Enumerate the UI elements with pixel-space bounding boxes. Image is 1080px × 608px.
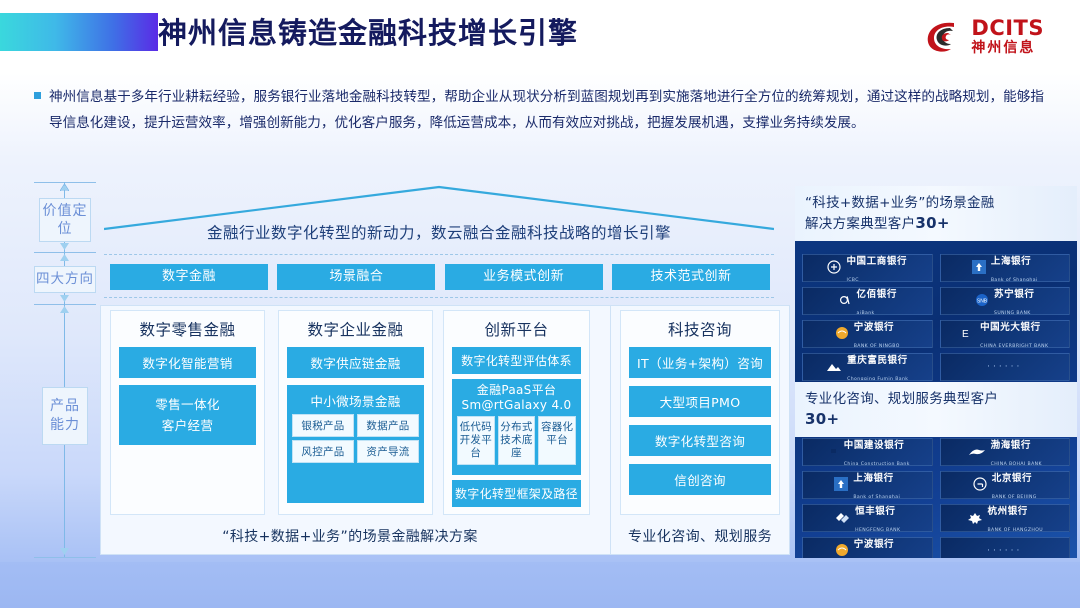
customer-name-cn: 渤海银行 <box>991 440 1031 451</box>
customer-name-cn: 中国光大银行 <box>980 322 1041 333</box>
customer-name-cn: 亿佰银行 <box>857 289 897 300</box>
sme-child-0[interactable]: 银税产品 <box>292 414 354 437</box>
innovation-item-paas[interactable]: 金融PaaS平台 Sm@rtGalaxy 4.0 低代码开发平台 分布式技术底座… <box>452 379 581 475</box>
customer-name-en: Chongqing Fumin Bank <box>847 377 908 381</box>
customer-name-cn: 重庆富民银行 <box>847 355 908 366</box>
slide-header: 神州信息铸造金融科技增长引擎 DCITS 神州信息 <box>0 0 1080 72</box>
svg-text:E: E <box>962 329 969 340</box>
arrow-down-icon <box>60 548 69 555</box>
customer-name-en: Bank of Shanghai <box>853 495 900 499</box>
aibank-icon <box>838 292 852 311</box>
arrow-down-icon <box>60 243 69 250</box>
customer-name-en: BANK OF HANGZHOU <box>988 528 1044 532</box>
customer-logo-tile[interactable]: 亿佰银行aiBank <box>802 287 933 315</box>
paas-child-2[interactable]: 容器化平台 <box>538 416 576 465</box>
direction-pill-3[interactable]: 技术范式创新 <box>612 264 770 290</box>
hero-text: 金融行业数字化转型的新动力，数云融合金融科技战略的增长引擎 <box>104 221 774 243</box>
consulting-item-1[interactable]: 大型项目PMO <box>629 386 771 417</box>
innovation-item-framework[interactable]: 数字化转型框架及路径 <box>452 480 581 507</box>
customer-name-en: BANK OF NINGBO <box>854 344 900 348</box>
customer-logo-text: 重庆富民银行Chongqing Fumin Bank <box>847 353 908 381</box>
customer-logos-panel: “科技+数据+业务”的场景金融 解决方案典型客户30+ 中国工商银行ICBC上海… <box>795 186 1077 558</box>
bank-of-hangzhou-icon <box>967 509 983 528</box>
customer-logo-text: 上海银行Bank of Shanghai <box>853 471 900 499</box>
customer-name-en: China Construction Bank <box>844 462 910 466</box>
arrow-down-icon <box>60 295 69 302</box>
customer-group1-heading: “科技+数据+业务”的场景金融 解决方案典型客户30+ <box>795 186 1077 241</box>
customer-logo-text: 宁波银行BANK OF NINGBO <box>854 320 900 348</box>
customer-logo-tile[interactable]: ······ <box>940 353 1071 381</box>
group1-title-line1: “科技+数据+业务”的场景金融 <box>805 193 1067 213</box>
customer-name-cn: 杭州银行 <box>988 506 1028 517</box>
column-digital-retail: 数字零售金融 数字化智能营销 零售一体化 客户经营 <box>110 310 265 515</box>
group2-title: 专业化咨询、规划服务典型客户 <box>805 389 1067 409</box>
direction-pill-2[interactable]: 业务模式创新 <box>445 264 603 290</box>
customer-group2-grid: 中国建设银行China Construction Bank渤海银行CHINA B… <box>802 438 1070 558</box>
customer-group2-heading: 专业化咨询、规划服务典型客户 30+ <box>795 382 1077 437</box>
customer-name-cn: 中国建设银行 <box>844 440 905 451</box>
retail-item-line2: 客户经营 <box>121 415 254 436</box>
column-digital-enterprise: 数字企业金融 数字供应链金融 中小微场景金融 银税产品 数据产品 风控产品 资产… <box>278 310 433 515</box>
hero-banner: 金融行业数字化转型的新动力，数云融合金融科技战略的增长引擎 <box>104 183 774 247</box>
customer-name-en: CHINA BOHAI BANK <box>991 462 1042 466</box>
fumin-bank-icon <box>826 358 842 377</box>
customer-name-cn: 恒丰银行 <box>855 506 895 517</box>
ellipsis-icon: ······ <box>987 546 1022 556</box>
sme-child-1[interactable]: 数据产品 <box>357 414 419 437</box>
enterprise-item-supply-chain[interactable]: 数字供应链金融 <box>287 347 424 378</box>
customer-logo-tile[interactable]: SNB苏宁银行SUNING BANK <box>940 287 1071 315</box>
customer-name-en: aiBank <box>857 311 875 315</box>
bottom-band <box>0 562 1080 608</box>
bank-of-beijing-icon <box>973 476 987 495</box>
innovation-item-assessment[interactable]: 数字化转型评估体系 <box>452 347 581 374</box>
customer-name-cn: 苏宁银行 <box>994 289 1034 300</box>
customer-logo-tile[interactable]: 重庆富民银行Chongqing Fumin Bank <box>802 353 933 381</box>
customer-name-en: SUNING BANK <box>994 311 1031 315</box>
left-axis: 价值定位 四大方向 产品能力 <box>34 182 96 558</box>
customer-logo-tile[interactable]: 中国建设银行China Construction Bank <box>802 438 933 466</box>
customer-logo-tile[interactable]: 渤海银行CHINA BOHAI BANK <box>940 438 1071 466</box>
axis-label-value-position: 价值定位 <box>39 198 91 242</box>
direction-pill-0[interactable]: 数字金融 <box>110 264 268 290</box>
divider-bottom <box>104 297 774 298</box>
customer-name-cn: 中国工商银行 <box>846 256 907 267</box>
sme-children-grid: 银税产品 数据产品 风控产品 资产导流 <box>292 414 419 463</box>
caption-solution: “科技+数据+业务”的场景金融解决方案 <box>110 526 590 546</box>
customer-name-en: HENGFENG BANK <box>855 528 900 532</box>
description-text: 神州信息基于多年行业耕耘经验，服务银行业落地金融科技转型，帮助企业从现状分析到蓝… <box>49 84 1044 136</box>
paas-line2: Sm@rtGalaxy 4.0 <box>452 398 581 413</box>
sme-child-3[interactable]: 资产导流 <box>357 440 419 463</box>
customer-name-cn: 上海银行 <box>853 473 893 484</box>
column-title: 科技咨询 <box>629 318 771 340</box>
bohai-bank-icon <box>968 443 986 462</box>
bank-of-shanghai-icon <box>972 259 986 278</box>
bank-of-shanghai-icon <box>834 476 848 495</box>
ellipsis-icon: ······ <box>987 362 1022 372</box>
paas-children-grid: 低代码开发平台 分布式技术底座 容器化平台 <box>457 416 576 465</box>
customer-logo-text: 中国光大银行CHINA EVERBRIGHT BANK <box>980 320 1048 348</box>
column-title: 数字企业金融 <box>287 318 424 340</box>
paas-child-0[interactable]: 低代码开发平台 <box>457 416 495 465</box>
retail-item-line1: 零售一体化 <box>121 394 254 415</box>
customer-logo-text: 北京银行BANK OF BEIJING <box>992 471 1037 499</box>
customer-logo-tile[interactable]: 恒丰银行HENGFENG BANK <box>802 504 933 532</box>
column-title: 创新平台 <box>452 318 581 340</box>
enterprise-item-sme-scenario[interactable]: 中小微场景金融 银税产品 数据产品 风控产品 资产导流 <box>287 385 424 503</box>
group1-count: 30+ <box>915 214 949 232</box>
divider-top <box>104 254 774 255</box>
customer-logo-tile[interactable]: 上海银行Bank of Shanghai <box>940 254 1071 282</box>
customer-logo-tile[interactable]: 北京银行BANK OF BEIJING <box>940 471 1071 499</box>
customer-logo-text: 恒丰银行HENGFENG BANK <box>855 504 900 532</box>
column-tech-consulting: 科技咨询 IT（业务+架构）咨询 大型项目PMO 数字化转型咨询 信创咨询 <box>620 310 780 515</box>
caption-consulting: 专业化咨询、规划服务 <box>614 526 786 546</box>
customer-logo-text: 中国建设银行China Construction Bank <box>844 438 910 466</box>
consulting-item-0[interactable]: IT（业务+架构）咨询 <box>629 347 771 378</box>
paas-line1: 金融PaaS平台 <box>452 383 581 398</box>
sme-title: 中小微场景金融 <box>287 391 424 410</box>
customer-logo-tile[interactable]: 上海银行Bank of Shanghai <box>802 471 933 499</box>
everbright-icon: E <box>961 325 975 344</box>
icbc-icon <box>827 259 841 278</box>
consulting-item-3[interactable]: 信创咨询 <box>629 464 771 495</box>
suning-bank-icon: SNB <box>975 292 989 311</box>
bullet-icon <box>34 92 41 99</box>
customer-logo-text: 上海银行Bank of Shanghai <box>991 254 1038 282</box>
customer-logo-text: 渤海银行CHINA BOHAI BANK <box>991 438 1042 466</box>
sme-child-2[interactable]: 风控产品 <box>292 440 354 463</box>
customer-name-en: CHINA EVERBRIGHT BANK <box>980 344 1048 348</box>
customer-group1-grid: 中国工商银行ICBC上海银行Bank of Shanghai亿佰银行aiBank… <box>802 254 1070 381</box>
customer-name-en: BANK OF BEIJING <box>992 495 1037 499</box>
svg-text:SNB: SNB <box>977 298 988 304</box>
bank-of-ningbo-icon <box>835 325 849 344</box>
arrow-up-icon <box>60 306 69 313</box>
customer-name-cn: 宁波银行 <box>854 539 894 550</box>
arrow-up-icon <box>60 184 69 191</box>
customer-logo-text: 宁波银行BANK OF NINGBO <box>854 537 900 558</box>
consulting-item-2[interactable]: 数字化转型咨询 <box>629 425 771 456</box>
slide-root: 神州信息铸造金融科技增长引擎 DCITS 神州信息 神州信息基于多年行业耕耘经验… <box>0 0 1080 608</box>
description-block: 神州信息基于多年行业耕耘经验，服务银行业落地金融科技转型，帮助企业从现状分析到蓝… <box>34 84 1044 136</box>
customer-name-en: ICBC <box>846 278 858 282</box>
ccb-icon <box>825 443 839 462</box>
logo-text-cn: 神州信息 <box>971 41 1044 55</box>
customer-logo-tile[interactable]: 宁波银行BANK OF NINGBO <box>802 320 933 348</box>
paas-child-1[interactable]: 分布式技术底座 <box>498 416 536 465</box>
customer-name-cn: 北京银行 <box>992 473 1032 484</box>
group2-count: 30+ <box>805 410 839 428</box>
retail-item-smart-marketing[interactable]: 数字化智能营销 <box>119 347 256 378</box>
dcits-logo: DCITS 神州信息 <box>924 18 1044 55</box>
column-title: 数字零售金融 <box>119 318 256 340</box>
group1-title-line2: 解决方案典型客户 <box>805 216 915 232</box>
customer-logo-tile[interactable]: ······ <box>940 537 1071 558</box>
hengfeng-bank-icon <box>834 509 850 528</box>
customer-logo-tile[interactable]: E中国光大银行CHINA EVERBRIGHT BANK <box>940 320 1071 348</box>
page-title: 神州信息铸造金融科技增长引擎 <box>158 10 578 52</box>
customer-logo-tile[interactable]: 宁波银行BANK OF NINGBO <box>802 537 933 558</box>
customer-logo-text: 中国工商银行ICBC <box>846 254 907 282</box>
customer-logo-tile[interactable]: 杭州银行BANK OF HANGZHOU <box>940 504 1071 532</box>
direction-pill-1[interactable]: 场景融合 <box>277 264 435 290</box>
customer-name-cn: 宁波银行 <box>854 322 894 333</box>
customer-logo-text: 苏宁银行SUNING BANK <box>994 287 1034 315</box>
retail-item-integrated-customer[interactable]: 零售一体化 客户经营 <box>119 385 256 445</box>
customer-logo-text: 杭州银行BANK OF HANGZHOU <box>988 504 1044 532</box>
four-directions-row: 数字金融 场景融合 业务模式创新 技术范式创新 <box>110 264 770 290</box>
arrow-up-icon <box>60 254 69 261</box>
customer-name-cn: 上海银行 <box>991 256 1031 267</box>
customer-name-en: Bank of Shanghai <box>991 278 1038 282</box>
axis-label-four-directions: 四大方向 <box>34 266 96 293</box>
customer-logo-tile[interactable]: 中国工商银行ICBC <box>802 254 933 282</box>
axis-label-product-ability: 产品能力 <box>42 387 88 445</box>
logo-text-en: DCITS <box>971 18 1044 39</box>
bank-of-ningbo-icon <box>835 542 849 559</box>
dcits-swoosh-icon <box>924 19 964 55</box>
column-innovation-platform: 创新平台 数字化转型评估体系 金融PaaS平台 Sm@rtGalaxy 4.0 … <box>443 310 590 515</box>
customer-logo-text: 亿佰银行aiBank <box>857 287 897 315</box>
title-accent-bar <box>0 13 158 51</box>
